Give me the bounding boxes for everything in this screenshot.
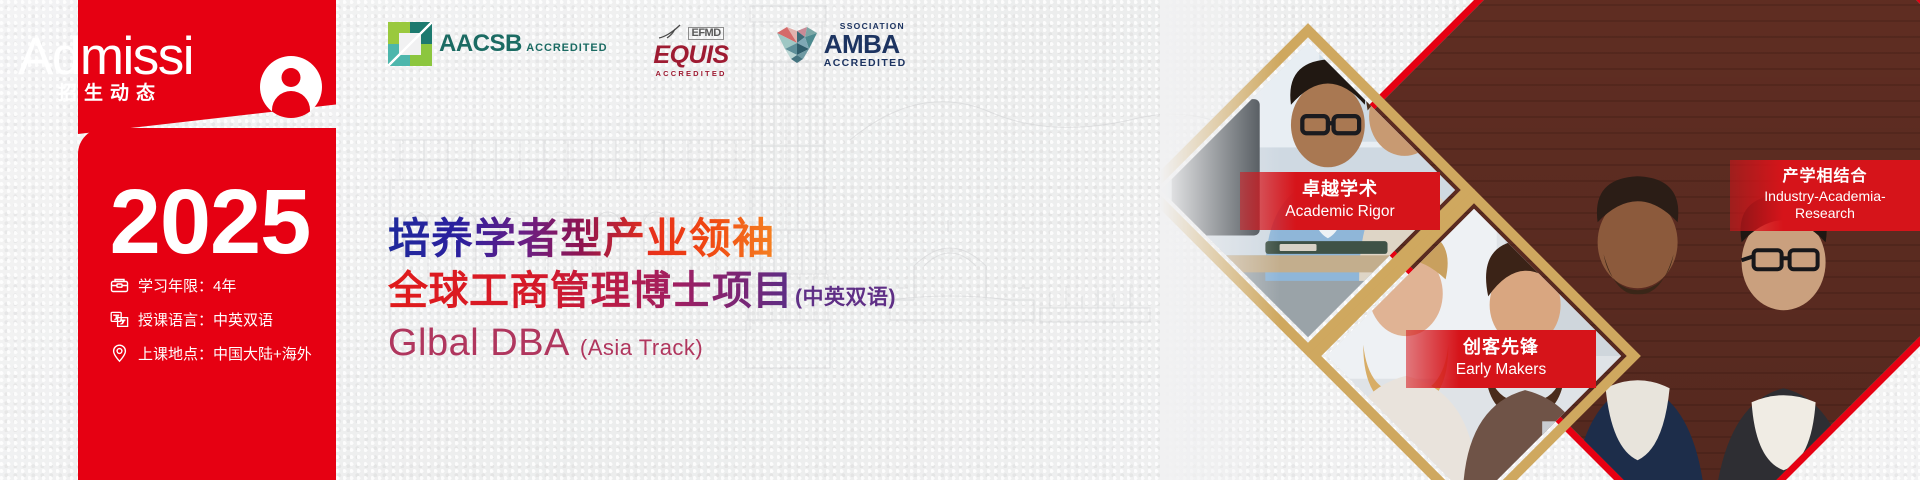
person-avatar-icon <box>260 56 322 118</box>
admission-logo-chinese: 招生动态 <box>58 78 162 105</box>
headline-english-title-row: Glbal DBA (Asia Track) <box>388 322 896 365</box>
headline-program-title-cn: 全球工商管理博士项目 <box>388 268 793 314</box>
aacsb-subtitle: ACCREDITED <box>526 42 607 54</box>
feature-en-industry: Industry-Academia-Research <box>1748 188 1902 222</box>
amba-heart-icon <box>775 25 819 65</box>
info-row-language: 授课语言： 中英双语 <box>108 302 348 336</box>
accreditation-logos: AACSB ACCREDITED EFMD EQUIS ACCREDITED <box>388 22 907 78</box>
aacsb-accredited-logo: AACSB ACCREDITED <box>388 22 607 66</box>
language-icon <box>108 309 130 329</box>
year-2025: 2025 <box>96 176 324 268</box>
feature-en-academic: Academic Rigor <box>1258 203 1422 222</box>
amba-title: AMBA <box>824 31 907 57</box>
feature-card-early-makers: 创客先锋 Early Makers <box>1406 330 1596 388</box>
feature-card-industry-academia: 产学相结合 Industry-Academia-Research <box>1730 160 1920 231</box>
info-value-location: 中国大陆+海外 <box>213 343 312 364</box>
admission-banner: Admissi 招生动态 2025 学习年限： 4年 <box>0 0 1920 480</box>
info-label-duration: 学习年限： <box>138 275 213 296</box>
aacsb-title: AACSB <box>439 30 522 57</box>
headline-gradient-slogan: 培养学者型产业领袖 <box>388 215 896 262</box>
headline-bilingual-tag: (中英双语) <box>795 286 896 310</box>
calendar-icon <box>108 275 130 295</box>
equis-title: EQUIS <box>653 43 728 68</box>
equis-accredited-logo: EFMD EQUIS ACCREDITED <box>653 22 728 78</box>
info-row-duration: 学习年限： 4年 <box>108 268 348 302</box>
feature-cn-industry: 产学相结合 <box>1748 167 1902 186</box>
equis-subtitle: ACCREDITED <box>653 70 728 78</box>
feature-cn-makers: 创客先锋 <box>1424 337 1578 359</box>
right-photo-collage: 产学相结合 Industry-Academia-Research <box>1160 0 1920 480</box>
location-pin-icon <box>108 343 130 363</box>
info-label-location: 上课地点： <box>138 343 213 364</box>
info-label-language: 授课语言： <box>138 309 213 330</box>
aacsb-mark-icon <box>388 22 432 66</box>
admission-logo: Admissi 招生动态 <box>10 26 310 121</box>
headline-program-title: 全球工商管理博士项目 (中英双语) <box>388 268 896 314</box>
efmd-label: EFMD <box>688 27 723 40</box>
feature-card-academic-rigor: 卓越学术 Academic Rigor <box>1240 172 1440 230</box>
program-info-list: 学习年限： 4年 授课语言： 中英双语 上课地点 <box>108 268 348 370</box>
efmd-swoosh-icon <box>658 24 684 40</box>
headline-english-track: (Asia Track) <box>580 335 703 361</box>
amba-subtitle: ACCREDITED <box>824 58 907 69</box>
headline-block: 培养学者型产业领袖 全球工商管理博士项目 (中英双语) Glbal DBA (A… <box>388 215 896 365</box>
info-value-duration: 4年 <box>213 275 236 296</box>
info-value-language: 中英双语 <box>213 309 273 330</box>
headline-english-title: Glbal DBA <box>388 322 570 365</box>
amba-accredited-logo: SSOCIATION AMBA ACCREDITED <box>775 22 907 68</box>
feature-en-makers: Early Makers <box>1424 361 1578 380</box>
info-row-location: 上课地点： 中国大陆+海外 <box>108 336 348 370</box>
feature-cn-academic: 卓越学术 <box>1258 179 1422 201</box>
